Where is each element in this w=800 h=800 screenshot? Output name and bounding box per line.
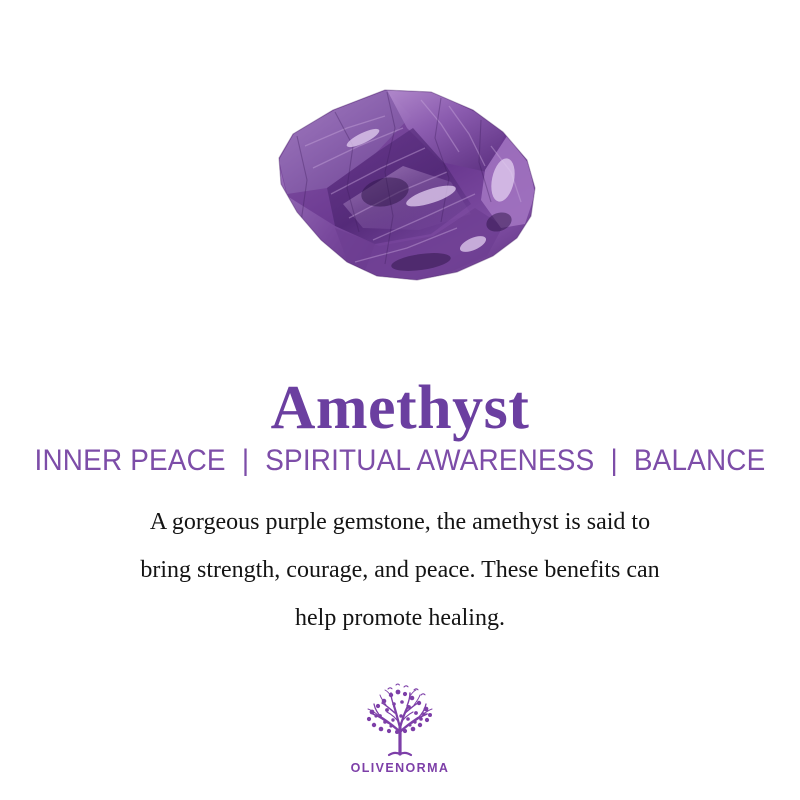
description-line-2: bring strength, courage, and peace. Thes… [60,546,740,594]
keyword-list: INNER PEACE | SPIRITUAL AWARENESS | BALA… [28,443,772,479]
brand-name: OLIVENORMA [351,761,450,775]
tree-branches [368,690,432,755]
keyword-separator-1: | [234,443,258,479]
page-title: Amethyst [0,372,800,444]
amethyst-info-card: Amethyst INNER PEACE | SPIRITUAL AWARENE… [0,0,800,800]
tree-of-life-icon [358,682,442,758]
gem-body [235,76,565,298]
keyword-balance: BALANCE [634,444,766,477]
brand-footer: OLIVENORMA [0,682,800,775]
keyword-inner-peace: INNER PEACE [35,444,226,477]
gemstone-image [0,72,800,302]
description-text: A gorgeous purple gemstone, the amethyst… [60,498,740,642]
raw-amethyst-crystal-icon [235,76,565,298]
keyword-spiritual-awareness: SPIRITUAL AWARENESS [265,444,594,477]
description-line-1: A gorgeous purple gemstone, the amethyst… [60,498,740,546]
description-line-3: help promote healing. [60,594,740,642]
keyword-separator-2: | [602,443,626,479]
